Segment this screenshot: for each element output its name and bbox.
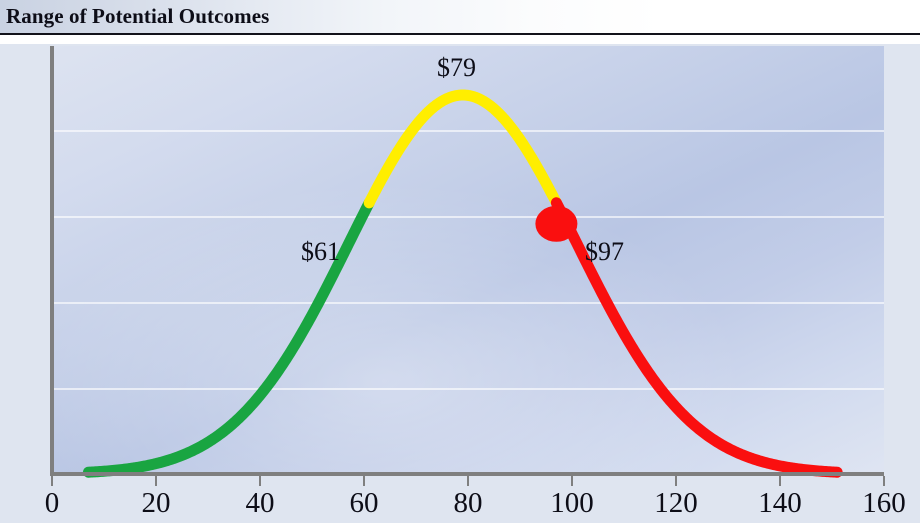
x-axis-tick xyxy=(363,476,365,486)
x-axis-tick xyxy=(259,476,261,486)
chart-page: Range of Potential Outcomes xyxy=(0,0,920,523)
x-axis-tick xyxy=(155,476,157,486)
distribution-curve xyxy=(0,44,920,523)
y-axis-line xyxy=(50,46,54,476)
x-axis-tick xyxy=(675,476,677,486)
annotation-label-peak: $79 xyxy=(437,53,476,83)
annotation-label-marker: $97 xyxy=(585,237,624,267)
curve-segment-mid xyxy=(369,95,556,203)
page-title: Range of Potential Outcomes xyxy=(6,2,269,30)
annotation-label-low: $61 xyxy=(301,237,340,267)
x-axis-label-0: 0 xyxy=(17,487,87,520)
x-axis-tick xyxy=(51,476,53,486)
title-bar: Range of Potential Outcomes xyxy=(0,0,920,33)
x-axis-label-80: 80 xyxy=(433,487,503,520)
x-axis-label-160: 160 xyxy=(849,487,919,520)
chart-panel: 0 20 40 60 80 100 120 140 160 $61 $79 $9… xyxy=(0,44,920,523)
x-axis-tick xyxy=(571,476,573,486)
x-axis-label-140: 140 xyxy=(745,487,815,520)
x-axis-label-60: 60 xyxy=(329,487,399,520)
x-axis-label-120: 120 xyxy=(641,487,711,520)
outcome-marker-dot[interactable] xyxy=(535,206,577,242)
x-axis-tick xyxy=(779,476,781,486)
x-axis-label-40: 40 xyxy=(225,487,295,520)
x-axis-tick xyxy=(883,476,885,486)
x-axis-label-20: 20 xyxy=(121,487,191,520)
title-divider xyxy=(0,33,920,35)
x-axis-tick xyxy=(467,476,469,486)
x-axis-label-100: 100 xyxy=(537,487,607,520)
